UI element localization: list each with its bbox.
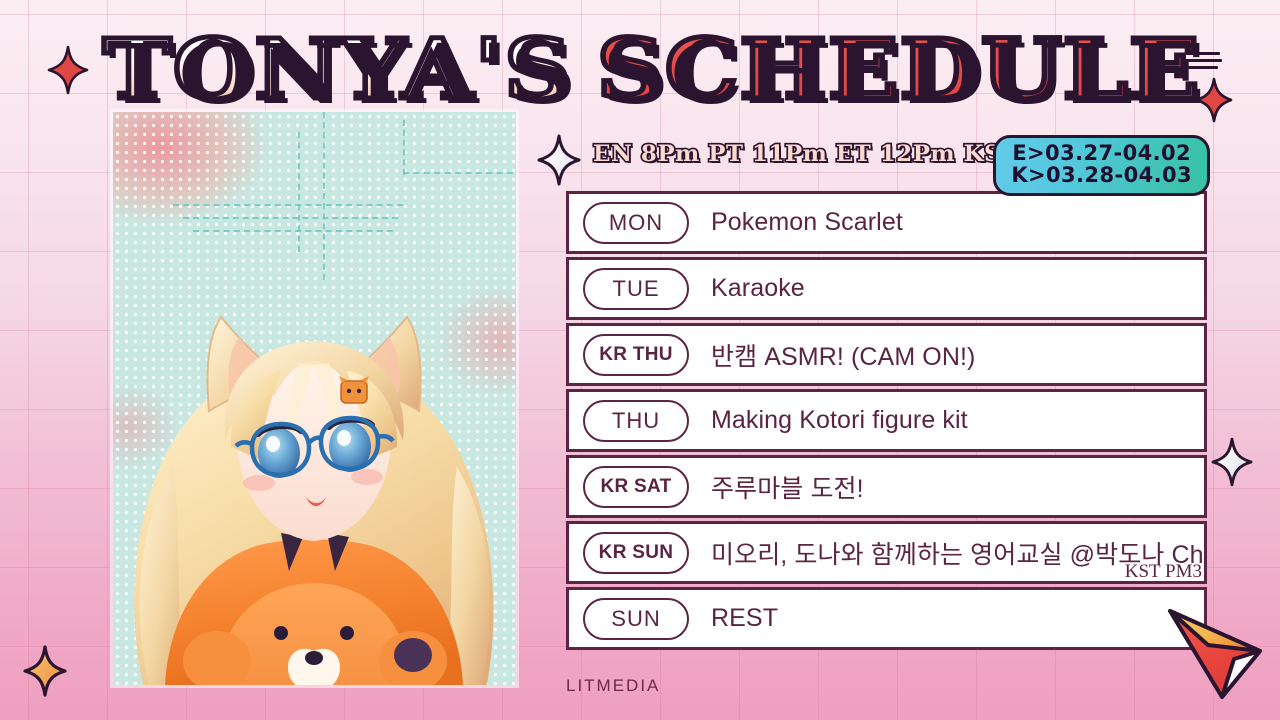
- tetrahedron-icon: [1164, 601, 1272, 708]
- stream-title: 주루마블 도전!: [711, 469, 864, 505]
- schedule-list: MON Pokemon Scarlet TUE Karaoke KR THU 반…: [566, 191, 1207, 650]
- day-pill: SUN: [583, 598, 689, 640]
- day-label: SUN: [611, 606, 660, 632]
- day-label: KR THU: [599, 344, 673, 366]
- date-range-badge: E>03.27-04.02 K>03.28-04.03: [993, 135, 1210, 196]
- schedule-row[interactable]: TUE Karaoke: [566, 257, 1207, 320]
- day-pill: MON: [583, 202, 689, 244]
- day-label: KR SUN: [599, 542, 674, 564]
- deco-line: [403, 120, 405, 175]
- date-range-kr: K>03.28-04.03: [1011, 165, 1192, 187]
- day-label: THU: [612, 408, 660, 434]
- footer-brand: LITMEDIA: [566, 676, 660, 696]
- day-pill: KR SUN: [583, 532, 689, 574]
- title-schedule: SCHEDULE: [597, 29, 1201, 111]
- schedule-row[interactable]: KR SUN 미오리, 도나와 함께하는 영어교실 @박도나 Ch KST PM…: [566, 521, 1207, 584]
- diamond-icon-top-left: [48, 46, 88, 94]
- diamond-icon-bottom-left: [24, 646, 66, 696]
- deco-line: [403, 172, 513, 174]
- stream-title: REST: [711, 604, 778, 633]
- day-pill: THU: [583, 400, 689, 442]
- stream-title: Pokemon Scarlet: [711, 208, 903, 237]
- day-label: MON: [609, 210, 663, 236]
- schedule-row[interactable]: SUN REST: [566, 587, 1207, 650]
- title-tonya: TONYA'S: [103, 29, 572, 111]
- page-title: TONYA'S SCHEDULE: [0, 22, 1280, 117]
- diamond-icon-header: [538, 135, 580, 185]
- day-label: TUE: [613, 276, 660, 302]
- day-label: KR SAT: [600, 476, 671, 498]
- stream-title: Karaoke: [711, 274, 805, 303]
- triple-line-icon: [1186, 52, 1222, 73]
- day-pill: KR THU: [583, 334, 689, 376]
- stream-title: 반캠 ASMR! (CAM ON!): [711, 337, 975, 373]
- character-artwork: [113, 215, 516, 685]
- diamond-icon-right: [1212, 438, 1252, 486]
- deco-line: [173, 204, 403, 206]
- diamond-icon-top-right: [1196, 78, 1232, 122]
- date-range-en: E>03.27-04.02: [1011, 143, 1192, 165]
- schedule-row[interactable]: KR THU 반캠 ASMR! (CAM ON!): [566, 323, 1207, 386]
- schedule-row[interactable]: KR SAT 주루마블 도전!: [566, 455, 1207, 518]
- stream-title: Making Kotori figure kit: [711, 406, 968, 435]
- character-illustration: [113, 112, 516, 685]
- stream-time-note: KST PM3: [1125, 561, 1202, 583]
- schedule-row[interactable]: THU Making Kotori figure kit: [566, 389, 1207, 452]
- stream-time-line: EN 8Pm PT 11Pm ET 12Pm KST: [593, 141, 1019, 167]
- day-pill: TUE: [583, 268, 689, 310]
- schedule-row[interactable]: MON Pokemon Scarlet: [566, 191, 1207, 254]
- day-pill: KR SAT: [583, 466, 689, 508]
